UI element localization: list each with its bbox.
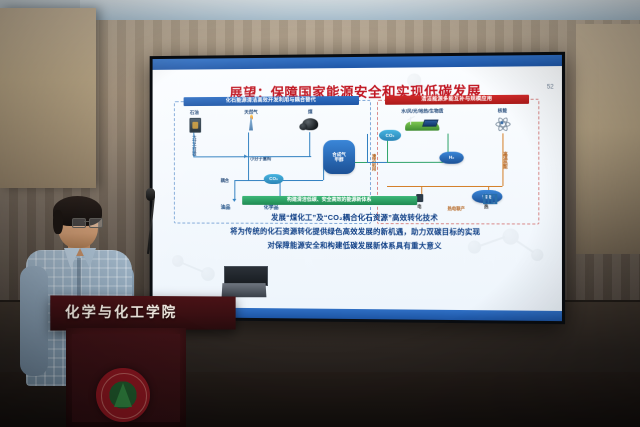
node-syngas: 合成气 甲醇 <box>323 140 355 174</box>
venue-sign: 化学与化工学院 <box>50 295 235 330</box>
output-heat-label: 热 <box>484 204 488 210</box>
output-electricity-label: 电 <box>417 204 421 210</box>
conclusion-line-1: 发展“煤化工”及“CO₂耦合化石资源”高效转化技术 <box>153 212 562 224</box>
node-co2: CO₂ <box>379 130 401 141</box>
product-oil: 油品 <box>221 204 231 211</box>
source-label-oil: 石油 <box>180 110 209 116</box>
connector <box>309 132 310 156</box>
connector <box>248 156 249 180</box>
venue-sign-text: 化学与化工学院 <box>65 302 177 323</box>
slide-body: 展望：保障国家能源安全和实现低碳发展 52 化石能源清洁高效开发利用与耦合替代 … <box>153 66 562 311</box>
lecture-hall-photo: 展望：保障国家能源安全和实现低碳发展 52 化石能源清洁高效开发利用与耦合替代 … <box>0 0 640 427</box>
fossil-header: 化石能源清洁高效开发利用与耦合替代 <box>184 96 359 106</box>
gas-flare-icon <box>244 118 258 131</box>
connector <box>387 186 502 187</box>
connector <box>234 180 235 200</box>
renewables-icon <box>405 117 439 131</box>
clean-header: 清洁能源多能互补与规模应用 <box>385 95 529 105</box>
connector <box>367 162 387 163</box>
arrow <box>244 154 247 158</box>
source-label-coal: 煤 <box>297 109 323 115</box>
slide: 展望：保障国家能源安全和实现低碳发展 52 化石能源清洁高效开发利用与耦合替代 … <box>153 55 562 321</box>
node-co2-secondary: CO₂ <box>264 174 284 184</box>
glasses-icon <box>72 218 102 227</box>
label-coupling: 耦合 <box>221 178 229 184</box>
slide-number: 52 <box>547 84 554 90</box>
projection-screen: 展望：保障国家能源安全和实现低碳发展 52 化石能源清洁高效开发利用与耦合替代 … <box>150 52 565 324</box>
wall-right-column <box>576 24 640 254</box>
atom-icon <box>494 115 509 130</box>
university-emblem <box>96 368 150 422</box>
node-h2: H₂ <box>439 152 463 164</box>
plug-icon <box>416 194 423 202</box>
conclusion-line-2: 将为传统的化石资源转化提供绿色高效发展的新机遇，助力双碳目标的实现 <box>153 225 562 237</box>
conclusion-line-3: 对保障能源安全和构建低碳发展新体系具有重大意义 <box>153 239 562 252</box>
arrow <box>232 199 236 202</box>
connector <box>367 134 368 162</box>
ceiling-light-strip <box>80 0 640 22</box>
connector <box>502 133 503 186</box>
coal-lump-icon <box>302 118 318 130</box>
product-chemicals: 化学品 <box>264 204 279 211</box>
connector <box>193 133 194 157</box>
connector <box>387 162 447 163</box>
connector <box>248 132 249 156</box>
speaker-left-arm <box>20 266 48 376</box>
label-clean-use: 清洁利用 <box>371 154 377 184</box>
microphone-head <box>146 188 155 201</box>
laptop-base <box>222 283 267 297</box>
connector <box>193 156 248 157</box>
connector <box>248 156 311 157</box>
speaker-hair-side <box>53 210 63 234</box>
source-label-nuclear: 核能 <box>486 108 519 114</box>
wall-left-column <box>0 8 96 188</box>
radiator-icon <box>483 194 497 204</box>
oil-barrel-icon <box>189 118 201 133</box>
source-label-renewables: 水/风/光/地热/生物质 <box>381 108 464 115</box>
green-banner: 构建清洁低碳、安全高效的能源新体系 <box>242 196 417 205</box>
